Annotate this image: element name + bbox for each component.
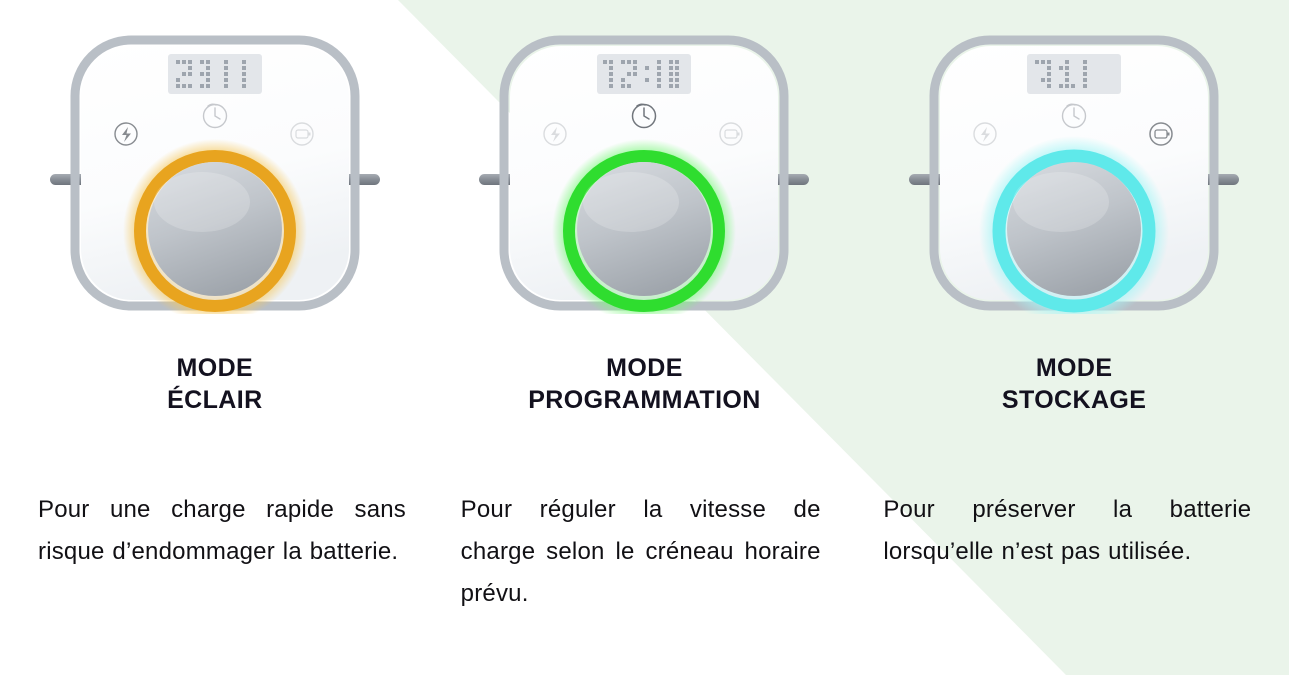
device-screen [1027, 54, 1121, 94]
mode-card-stockage: MODE STOCKAGE Pour préserver la batterie… [859, 0, 1289, 675]
mode-description-eclair: Pour une charge rapide sans risque d’end… [38, 489, 406, 573]
charger-device-eclair [50, 24, 380, 314]
mode-description-programmation: Pour réguler la vitesse de charge selon … [461, 489, 821, 615]
mode-heading-line2: PROGRAMMATION [430, 384, 860, 416]
mode-heading-line2: ÉCLAIR [0, 384, 430, 416]
mode-description-stockage: Pour préserver la batterie lorsqu’elle n… [883, 489, 1251, 573]
illustration-canvas: MODE ÉCLAIR Pour une charge rapide sans … [0, 0, 1289, 675]
mode-heading-programmation: MODE PROGRAMMATION [430, 352, 860, 416]
mode-heading-line2: STOCKAGE [859, 384, 1289, 416]
charger-device-programmation [479, 24, 809, 314]
mode-card-programmation: MODE PROGRAMMATION Pour réguler la vites… [430, 0, 860, 675]
mode-card-eclair: MODE ÉCLAIR Pour une charge rapide sans … [0, 0, 430, 675]
device-screen [168, 54, 262, 94]
mode-heading-line1: MODE [0, 352, 430, 384]
mode-heading-stockage: MODE STOCKAGE [859, 352, 1289, 416]
mode-heading-line1: MODE [859, 352, 1289, 384]
device-screen [597, 54, 691, 94]
mode-heading-line1: MODE [430, 352, 860, 384]
mode-columns: MODE ÉCLAIR Pour une charge rapide sans … [0, 0, 1289, 675]
mode-heading-eclair: MODE ÉCLAIR [0, 352, 430, 416]
charger-device-stockage [909, 24, 1239, 314]
